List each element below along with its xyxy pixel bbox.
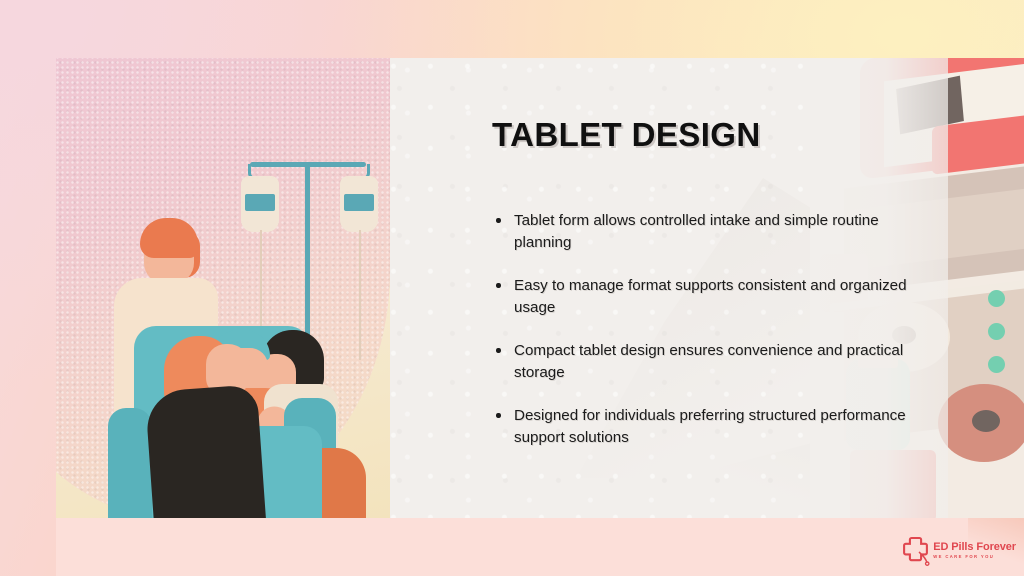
text-content: TABLET DESIGN Tablet form allows control…: [436, 58, 956, 518]
list-item: Designed for individuals preferring stru…: [494, 405, 924, 448]
bullet-list: Tablet form allows controlled intake and…: [494, 210, 924, 471]
bottom-pink-band: [56, 518, 1024, 576]
medical-cross-icon: [902, 536, 930, 566]
logo-tagline: WE CARE FOR YOU: [933, 555, 1016, 559]
logo-name: ED Pills Forever: [933, 542, 1016, 553]
iv-bag-left: [241, 176, 279, 232]
left-illustration: [56, 58, 390, 518]
content-card: TABLET DESIGN Tablet form allows control…: [56, 58, 1024, 518]
right-fade-overlay-soft: [948, 58, 1024, 518]
list-item: Tablet form allows controlled intake and…: [494, 210, 924, 253]
list-item: Easy to manage format supports consisten…: [494, 275, 924, 318]
brand-logo[interactable]: ED Pills Forever WE CARE FOR YOU: [902, 534, 1016, 568]
slide: TABLET DESIGN Tablet form allows control…: [0, 0, 1024, 576]
iv-bag-label-left: [245, 194, 275, 211]
iv-tube-right: [359, 230, 361, 360]
iv-bag-label-right: [344, 194, 374, 211]
iv-bag-right: [340, 176, 378, 232]
list-item: Compact tablet design ensures convenienc…: [494, 340, 924, 383]
logo-text-block: ED Pills Forever WE CARE FOR YOU: [933, 542, 1016, 559]
page-title: TABLET DESIGN: [492, 116, 761, 154]
man-hair: [140, 218, 198, 258]
woman1-dress: [145, 384, 271, 518]
armchair-arm-left: [108, 408, 152, 518]
